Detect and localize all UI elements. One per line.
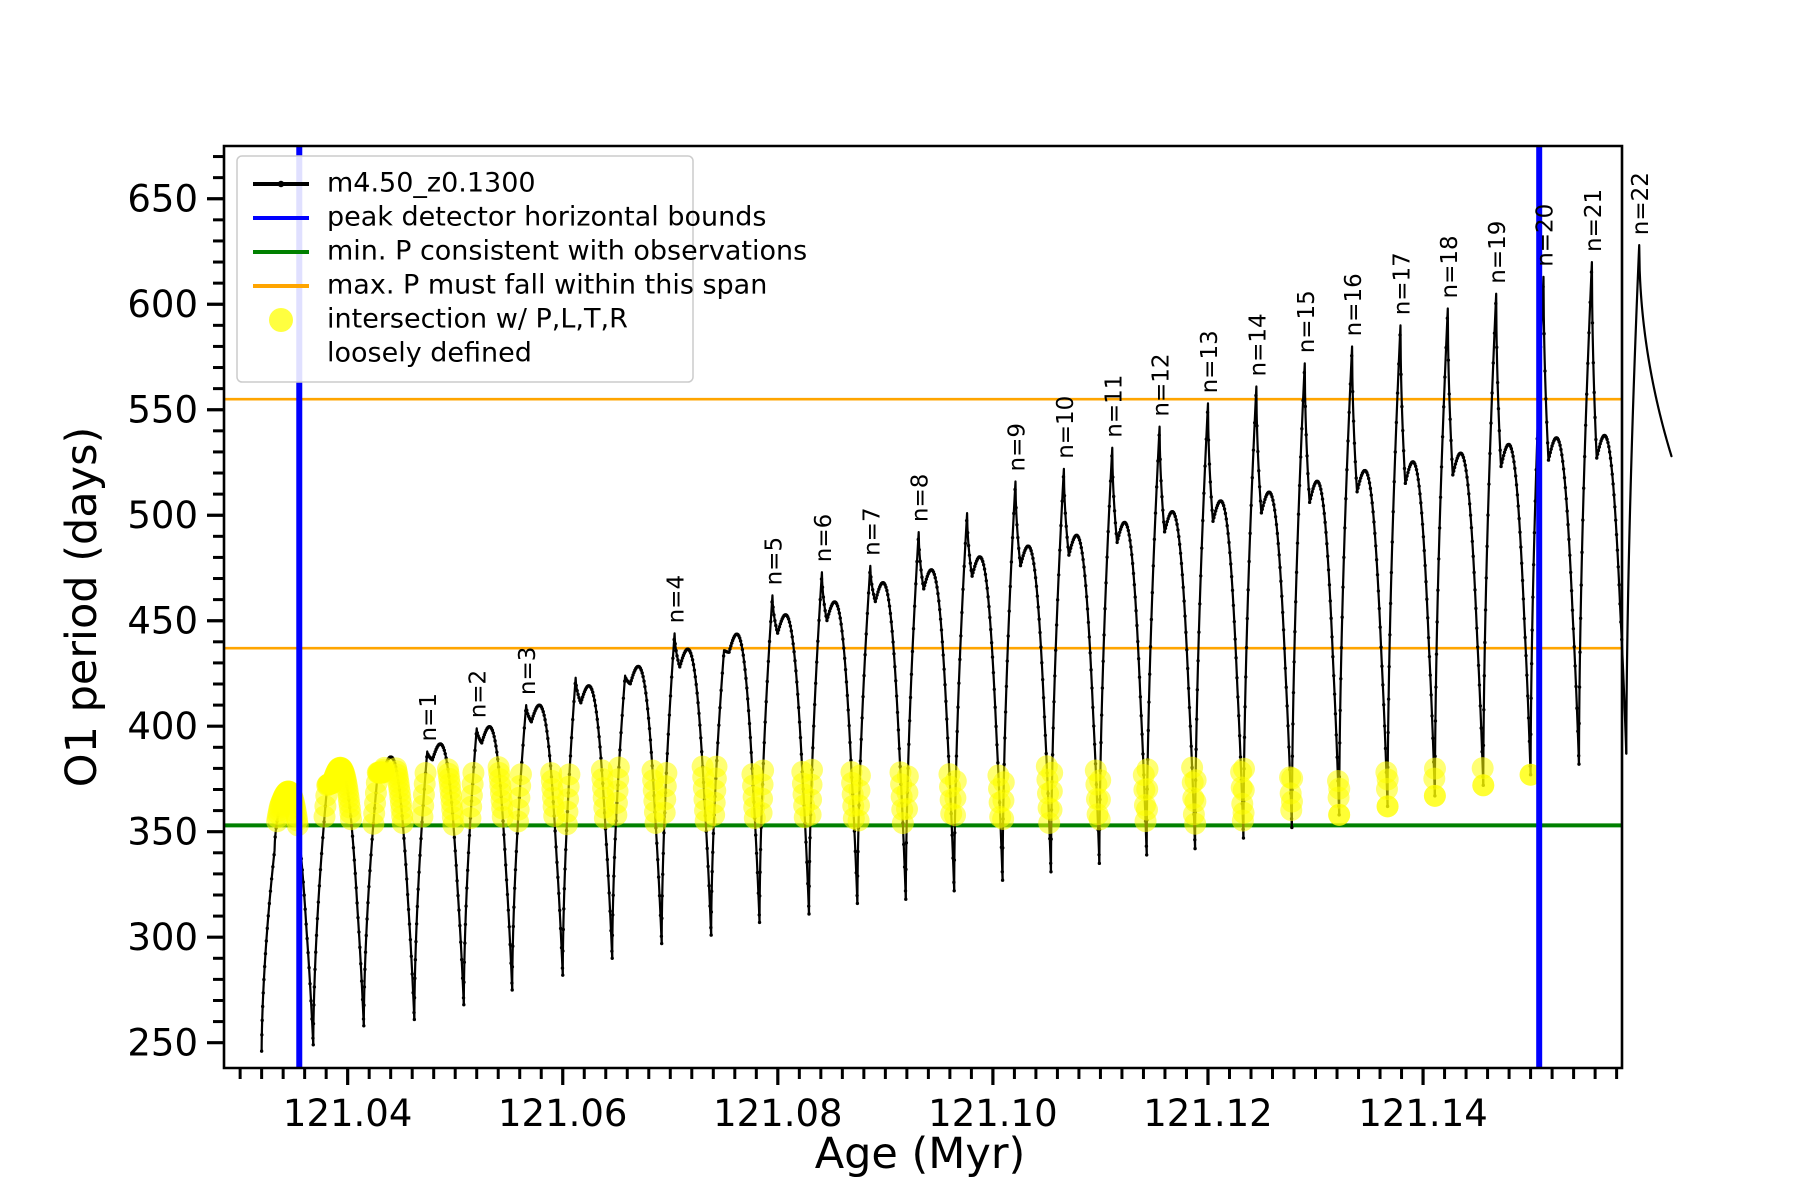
series-data-point (1321, 497, 1324, 500)
series-data-point (1371, 510, 1374, 513)
series-data-point (940, 628, 943, 631)
series-data-point (1225, 517, 1228, 520)
series-data-point (1420, 511, 1423, 514)
series-data-point (1372, 520, 1375, 523)
series-data-point (1542, 332, 1545, 335)
series-data-point (1001, 879, 1004, 882)
y-tick-label: 500 (127, 494, 198, 537)
peak-index-label: n=1 (416, 693, 442, 741)
series-data-point (362, 1024, 365, 1027)
series-data-point (1008, 609, 1011, 612)
series-data-point (1511, 455, 1514, 458)
series-data-point (856, 850, 859, 853)
series-data-point (748, 722, 751, 725)
series-data-point (811, 746, 814, 749)
series-data-point (315, 934, 318, 937)
series-data-point (1378, 626, 1381, 629)
peak-index-label: n=4 (664, 575, 690, 623)
series-data-point (672, 638, 675, 641)
series-data-point (1016, 536, 1019, 539)
series-data-point (312, 1003, 315, 1006)
series-data-point (845, 680, 848, 683)
series-data-point (1499, 465, 1502, 468)
series-data-point (1246, 617, 1249, 620)
series-data-point (799, 736, 802, 739)
series-data-point (1590, 270, 1593, 273)
series-data-point (1426, 616, 1429, 619)
series-data-point (1338, 741, 1341, 744)
series-data-point (410, 955, 413, 958)
series-data-point (303, 894, 306, 897)
series-data-point (990, 641, 993, 644)
series-data-point (512, 906, 515, 909)
series-data-point (521, 744, 524, 747)
series-data-point (1543, 369, 1546, 372)
series-data-point (1573, 664, 1576, 667)
series-data-point (1402, 449, 1405, 452)
series-data-point (670, 675, 673, 678)
series-data-point (644, 691, 647, 694)
series-data-point (1474, 607, 1477, 610)
peak-index-label: n=7 (859, 507, 885, 555)
intersection-marker (1089, 789, 1111, 811)
series-data-point (816, 639, 819, 642)
intersection-marker (1424, 785, 1446, 807)
peak-index-label: n=5 (761, 537, 787, 585)
series-data-point (700, 750, 703, 753)
series-data-point (1464, 469, 1467, 472)
intersection-marker (1377, 769, 1399, 791)
series-data-point (305, 937, 308, 940)
series-data-point (1522, 597, 1525, 600)
series-data-point (1339, 677, 1342, 680)
series-data-point (1117, 534, 1120, 537)
series-data-point (1260, 511, 1263, 514)
series-data-point (1378, 607, 1381, 610)
series-data-point (1391, 540, 1394, 543)
series-data-point (363, 985, 366, 988)
series-data-point (827, 612, 830, 615)
series-data-point (744, 677, 747, 680)
series-data-point (416, 905, 419, 908)
series-data-point (1368, 481, 1371, 484)
series-data-point (907, 743, 910, 746)
series-data-point (415, 922, 418, 925)
series-data-point (1276, 532, 1279, 535)
series-data-point (1562, 467, 1565, 470)
series-data-point (1324, 531, 1327, 534)
series-data-point (1149, 645, 1152, 648)
series-data-point (1232, 604, 1235, 607)
series-data-point (554, 845, 557, 848)
series-data-point (1093, 743, 1096, 746)
series-data-point (993, 706, 996, 709)
series-data-point (579, 701, 582, 704)
series-data-point (661, 873, 664, 876)
series-data-point (709, 933, 712, 936)
series-data-point (1501, 457, 1504, 460)
series-data-point (971, 571, 974, 574)
series-data-point (1090, 686, 1093, 689)
intersection-marker (415, 762, 437, 784)
series-data-point (846, 694, 849, 697)
series-data-point (678, 665, 681, 668)
series-data-point (404, 863, 407, 866)
series-data-point (1226, 524, 1229, 527)
series-data-point (1419, 501, 1422, 504)
series-data-point (1182, 599, 1185, 602)
series-data-point (815, 660, 818, 663)
series-data-point (1479, 704, 1482, 707)
series-data-point (1141, 752, 1144, 755)
series-data-point (460, 958, 463, 961)
series-data-point (1135, 624, 1138, 627)
series-data-point (1060, 499, 1063, 502)
series-data-point (1100, 713, 1103, 716)
series-data-point (1187, 687, 1190, 690)
series-data-point (1031, 557, 1034, 560)
series-data-point (1447, 358, 1450, 361)
series-data-point (1373, 532, 1376, 535)
series-data-point (790, 629, 793, 632)
x-tick-label: 121.12 (1143, 1092, 1272, 1135)
series-data-point (457, 908, 460, 911)
series-data-point (525, 709, 528, 712)
series-data-point (897, 728, 900, 731)
series-data-point (1347, 411, 1350, 414)
series-data-point (1443, 375, 1446, 378)
series-data-point (1585, 393, 1588, 396)
series-data-point (1281, 611, 1284, 614)
peak-index-label: n=19 (1485, 221, 1511, 284)
series-data-point (1353, 442, 1356, 445)
series-data-point (743, 668, 746, 671)
series-data-point (542, 710, 545, 713)
series-data-point (1388, 633, 1391, 636)
series-data-point (1463, 459, 1466, 462)
series-data-point (861, 695, 864, 698)
series-data-point (1042, 696, 1045, 699)
series-data-point (1429, 693, 1432, 696)
series-data-point (988, 616, 991, 619)
series-data-point (1273, 508, 1276, 511)
series-data-point (1189, 725, 1192, 728)
series-data-point (894, 679, 897, 682)
series-data-point (1270, 495, 1273, 498)
series-data-point (981, 560, 984, 563)
series-data-point (771, 605, 774, 608)
series-data-point (1514, 474, 1517, 477)
series-data-point (1132, 572, 1135, 575)
series-data-point (1485, 545, 1488, 548)
series-data-point (1492, 361, 1495, 364)
series-data-point (1597, 449, 1600, 452)
series-data-point (1593, 416, 1596, 419)
series-data-point (1030, 552, 1033, 555)
series-data-point (1014, 506, 1017, 509)
series-data-point (1612, 493, 1615, 496)
series-data-point (839, 616, 842, 619)
series-data-point (920, 576, 923, 579)
series-data-point (1304, 405, 1307, 408)
series-data-point (1484, 608, 1487, 611)
series-data-point (403, 849, 406, 852)
series-data-point (1275, 523, 1278, 526)
series-data-point (888, 604, 891, 607)
series-data-point (758, 921, 761, 924)
series-data-point (1214, 509, 1217, 512)
intersection-marker (1184, 791, 1206, 813)
series-data-point (1184, 631, 1187, 634)
series-data-point (1370, 501, 1373, 504)
series-data-point (1303, 371, 1306, 374)
series-data-point (1406, 471, 1409, 474)
intersection-marker (1281, 767, 1303, 789)
series-data-point (622, 697, 625, 700)
series-data-point (523, 726, 526, 729)
series-data-point (1212, 516, 1215, 519)
series-data-point (1434, 719, 1437, 722)
series-data-point (613, 856, 616, 859)
series-data-point (405, 877, 408, 880)
series-data-point (1441, 435, 1444, 438)
intersection-marker (608, 756, 630, 778)
series-data-point (1228, 551, 1231, 554)
series-data-point (1517, 517, 1520, 520)
series-data-point (759, 848, 762, 851)
series-data-point (884, 586, 887, 589)
series-data-point (943, 683, 946, 686)
series-data-point (260, 1033, 263, 1036)
series-data-point (1560, 453, 1563, 456)
series-data-point (1580, 583, 1583, 586)
series-data-point (1108, 505, 1111, 508)
series-data-point (1561, 460, 1564, 463)
series-data-point (502, 833, 505, 836)
series-data-point (1231, 589, 1234, 592)
series-data-point (848, 741, 851, 744)
series-data-point (1256, 450, 1259, 453)
series-data-point (847, 708, 850, 711)
series-data-point (562, 928, 565, 931)
series-data-point (612, 874, 615, 877)
series-data-point (1098, 862, 1101, 865)
series-data-point (1498, 429, 1501, 432)
series-data-point (668, 713, 671, 716)
series-data-point (844, 668, 847, 671)
series-data-point (887, 598, 890, 601)
series-data-point (1328, 583, 1331, 586)
series-data-point (263, 965, 266, 968)
series-data-point (1482, 708, 1485, 711)
intersection-marker (1328, 778, 1350, 800)
series-data-point (512, 925, 515, 928)
series-data-point (1451, 473, 1454, 476)
series-data-point (1300, 427, 1303, 430)
series-data-point (1531, 628, 1534, 631)
intersection-marker (1233, 758, 1255, 780)
series-data-point (936, 592, 939, 595)
series-data-point (1531, 595, 1534, 598)
series-data-point (494, 744, 497, 747)
series-data-point (1208, 462, 1211, 465)
series-data-point (893, 665, 896, 668)
series-data-point (1202, 492, 1205, 495)
peak-index-label: n=17 (1390, 252, 1416, 315)
series-data-point (738, 636, 741, 639)
y-tick-label: 550 (127, 389, 198, 432)
series-data-point (492, 731, 495, 734)
x-axis-title: Age (Myr) (815, 1129, 1026, 1179)
series-data-point (875, 593, 878, 596)
series-data-point (1404, 482, 1407, 485)
series-data-point (819, 598, 822, 601)
intersection-marker (1233, 779, 1255, 801)
series-data-point (1495, 346, 1498, 349)
series-data-point (1387, 665, 1390, 668)
peak-index-label: n=18 (1437, 235, 1463, 298)
series-data-point (1574, 685, 1577, 688)
series-data-point (316, 917, 319, 920)
series-data-point (1305, 454, 1308, 457)
series-data-point (1012, 512, 1015, 515)
series-data-point (365, 917, 368, 920)
series-data-point (750, 751, 753, 754)
series-data-point (649, 738, 652, 741)
series-data-point (562, 907, 565, 910)
series-data-point (1065, 536, 1068, 539)
series-data-point (895, 694, 898, 697)
series-data-point (837, 607, 840, 610)
series-data-point (1041, 678, 1044, 681)
series-data-point (1296, 541, 1299, 544)
series-data-point (414, 958, 417, 961)
series-data-point (1357, 483, 1360, 486)
series-data-point (1452, 469, 1455, 472)
series-data-point (606, 858, 609, 861)
series-data-point (630, 679, 633, 682)
series-data-point (364, 951, 367, 954)
series-data-point (1430, 714, 1433, 717)
series-data-point (1616, 548, 1619, 551)
series-data-point (955, 754, 958, 757)
series-data-point (667, 733, 670, 736)
series-data-point (1306, 472, 1309, 475)
series-data-point (569, 754, 572, 757)
series-data-point (505, 878, 508, 881)
series-data-point (915, 560, 918, 563)
series-data-point (1036, 594, 1039, 597)
series-data-point (1059, 524, 1062, 527)
series-data-point (797, 706, 800, 709)
series-data-point (1307, 488, 1310, 491)
series-data-point (1195, 718, 1198, 721)
series-data-point (1209, 480, 1212, 483)
series-data-point (1581, 518, 1584, 521)
series-data-point (860, 716, 863, 719)
series-data-point (804, 840, 807, 843)
series-data-point (561, 949, 564, 952)
series-data-point (758, 871, 761, 874)
series-data-point (312, 1022, 315, 1025)
series-data-point (1054, 649, 1057, 652)
series-data-point (1470, 526, 1473, 529)
intersection-marker (1184, 813, 1206, 835)
series-data-point (717, 724, 720, 727)
series-data-point (984, 573, 987, 576)
series-data-point (1114, 521, 1117, 524)
series-data-point (1109, 479, 1112, 482)
series-data-point (870, 583, 873, 586)
intersection-marker (1041, 762, 1063, 784)
series-data-point (1564, 486, 1567, 489)
series-data-point (1013, 488, 1016, 491)
series-data-point (443, 749, 446, 752)
series-data-point (1383, 724, 1386, 727)
series-data-point (808, 860, 811, 863)
series-data-point (1517, 504, 1520, 507)
series-data-point (1595, 456, 1598, 459)
series-data-point (705, 847, 708, 850)
y-tick-label: 650 (127, 178, 198, 221)
series-data-point (950, 833, 953, 836)
series-data-point (605, 843, 608, 846)
series-data-point (1529, 733, 1532, 736)
series-data-point (1299, 455, 1302, 458)
series-data-point (1206, 411, 1209, 414)
series-data-point (1614, 518, 1617, 521)
series-data-point (1179, 552, 1182, 555)
series-data-point (1519, 545, 1522, 548)
series-data-point (1544, 397, 1547, 400)
series-data-point (690, 654, 693, 657)
series-data-point (666, 752, 669, 755)
series-data-point (1490, 391, 1493, 394)
series-data-point (1271, 499, 1274, 502)
series-data-point (1476, 645, 1479, 648)
series-data-point (1282, 628, 1285, 631)
series-data-point (1235, 676, 1238, 679)
series-data-point (1598, 445, 1601, 448)
series-data-point (1356, 486, 1359, 489)
series-data-point (507, 908, 510, 911)
series-data-point (1293, 630, 1296, 633)
series-data-point (563, 867, 566, 870)
peak-index-label: n=20 (1533, 204, 1559, 267)
series-data-point (1502, 454, 1505, 457)
series-data-point (1140, 714, 1143, 717)
series-data-point (719, 689, 722, 692)
series-data-point (273, 835, 276, 838)
series-data-point (1414, 465, 1417, 468)
series-data-point (455, 879, 458, 882)
series-data-point (1482, 744, 1485, 747)
series-data-point (1396, 391, 1399, 394)
series-data-point (1586, 362, 1589, 365)
series-data-point (826, 616, 829, 619)
series-data-point (1549, 451, 1552, 454)
series-data-point (1394, 450, 1397, 453)
series-data-point (1609, 457, 1612, 460)
series-data-point (679, 662, 682, 665)
series-data-point (1045, 752, 1048, 755)
series-data-point (918, 560, 921, 563)
series-data-point (1520, 561, 1523, 564)
series-data-point (513, 887, 516, 890)
series-data-point (459, 940, 462, 943)
series-data-point (1052, 726, 1055, 729)
series-data-point (1010, 560, 1013, 563)
